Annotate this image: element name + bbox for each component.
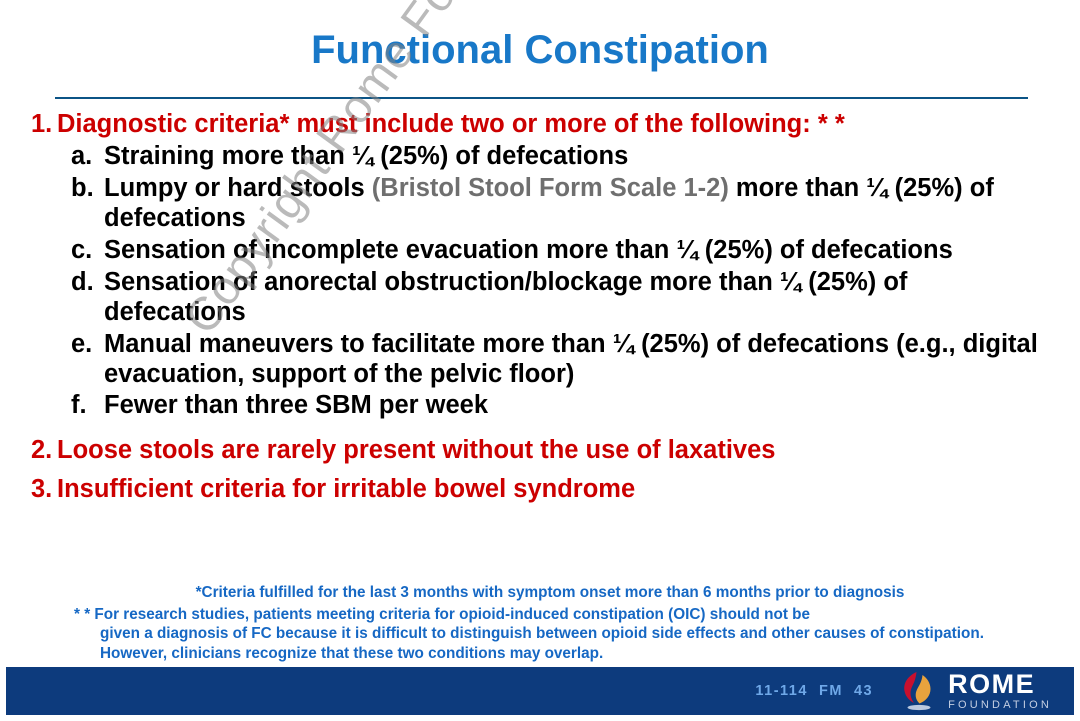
criteria-subitem-c-text: Sensation of incomplete evacuation more … xyxy=(104,236,1080,266)
criteria-subitem-b: b. Lumpy or hard stools (Bristol Stool F… xyxy=(0,174,1080,234)
criteria-item-2-text: Loose stools are rarely present without … xyxy=(57,436,1080,466)
criteria-subitem-e-marker: e. xyxy=(71,330,104,390)
criteria-subitem-c-text-main: Sensation of incomplete evacuation more … xyxy=(104,236,953,264)
criteria-subitem-e: e. Manual maneuvers to facilitate more t… xyxy=(0,330,1080,390)
page-number: 11-114 FM 43 xyxy=(755,683,873,699)
criteria-item-1-marker: 1. xyxy=(31,110,57,140)
footnotes: *Criteria fulfilled for the last 3 month… xyxy=(0,583,1080,663)
criteria-item-3-marker: 3. xyxy=(31,475,57,505)
flame-icon xyxy=(899,670,939,712)
criteria-subitem-e-text-main: Manual maneuvers to facilitate more than… xyxy=(104,330,1038,388)
criteria-subitem-d-marker: d. xyxy=(71,268,104,328)
footnote-asterisk: *Criteria fulfilled for the last 3 month… xyxy=(0,583,1080,603)
criteria-subitem-d-text: Sensation of anorectal obstruction/block… xyxy=(104,268,1080,328)
criteria-subitem-c: c. Sensation of incomplete evacuation mo… xyxy=(0,236,1080,266)
criteria-list: 1. Diagnostic criteria* must include two… xyxy=(0,110,1080,506)
logo-primary-text: ROME xyxy=(948,671,1052,698)
logo-wordmark: ROME FOUNDATION xyxy=(948,671,1052,711)
criteria-subitem-d: d. Sensation of anorectal obstruction/bl… xyxy=(0,268,1080,328)
page-title: Functional Constipation xyxy=(0,28,1080,72)
criteria-subitem-f-text: Fewer than three SBM per week xyxy=(104,391,1080,421)
criteria-subitem-a: a. Straining more than ¼ (25%) of defeca… xyxy=(0,142,1080,172)
logo-secondary-text: FOUNDATION xyxy=(948,700,1052,711)
criteria-item-1: 1. Diagnostic criteria* must include two… xyxy=(0,110,1080,140)
rome-foundation-logo: ROME FOUNDATION xyxy=(899,670,1052,712)
criteria-item-3-text: Insufficient criteria for irritable bowe… xyxy=(57,475,1080,505)
spacer-above-item-3 xyxy=(0,467,1080,475)
slide: Functional Constipation 1. Diagnostic cr… xyxy=(0,0,1080,721)
footnote-double-asterisk-body: given a diagnosis of FC because it is di… xyxy=(74,624,996,663)
criteria-subitem-a-text-main: Straining more than ¼ (25%) of defecatio… xyxy=(104,142,628,170)
title-divider xyxy=(55,97,1028,99)
criteria-subitem-f-marker: f. xyxy=(71,391,104,421)
criteria-subitem-c-marker: c. xyxy=(71,236,104,266)
criteria-subitem-b-text: Lumpy or hard stools (Bristol Stool Form… xyxy=(104,174,1080,234)
criteria-subitem-f-text-main: Fewer than three SBM per week xyxy=(104,391,488,419)
criteria-subitem-b-text-main: Lumpy or hard stools xyxy=(104,174,372,202)
criteria-subitem-a-text: Straining more than ¼ (25%) of defecatio… xyxy=(104,142,1080,172)
criteria-item-3: 3. Insufficient criteria for irritable b… xyxy=(0,475,1080,505)
criteria-subitem-f: f. Fewer than three SBM per week xyxy=(0,391,1080,421)
criteria-sublist: a. Straining more than ¼ (25%) of defeca… xyxy=(0,142,1080,422)
criteria-subitem-e-text: Manual maneuvers to facilitate more than… xyxy=(104,330,1080,390)
footer-bar: 11-114 FM 43 ROME FOUNDATION xyxy=(6,667,1074,715)
criteria-subitem-a-marker: a. xyxy=(71,142,104,172)
criteria-subitem-d-text-main: Sensation of anorectal obstruction/block… xyxy=(104,268,907,326)
spacer-above-item-2 xyxy=(0,423,1080,436)
criteria-item-2: 2. Loose stools are rarely present witho… xyxy=(0,436,1080,466)
criteria-subitem-b-marker: b. xyxy=(71,174,104,234)
footnote-double-asterisk: * * For research studies, patients meeti… xyxy=(0,605,1080,664)
criteria-subitem-b-parenthetical: (Bristol Stool Form Scale 1-2) xyxy=(372,174,729,202)
criteria-item-1-text: Diagnostic criteria* must include two or… xyxy=(57,110,1080,140)
footnote-double-asterisk-lead: * * For research studies, patients meeti… xyxy=(74,605,996,625)
criteria-item-2-marker: 2. xyxy=(31,436,57,466)
